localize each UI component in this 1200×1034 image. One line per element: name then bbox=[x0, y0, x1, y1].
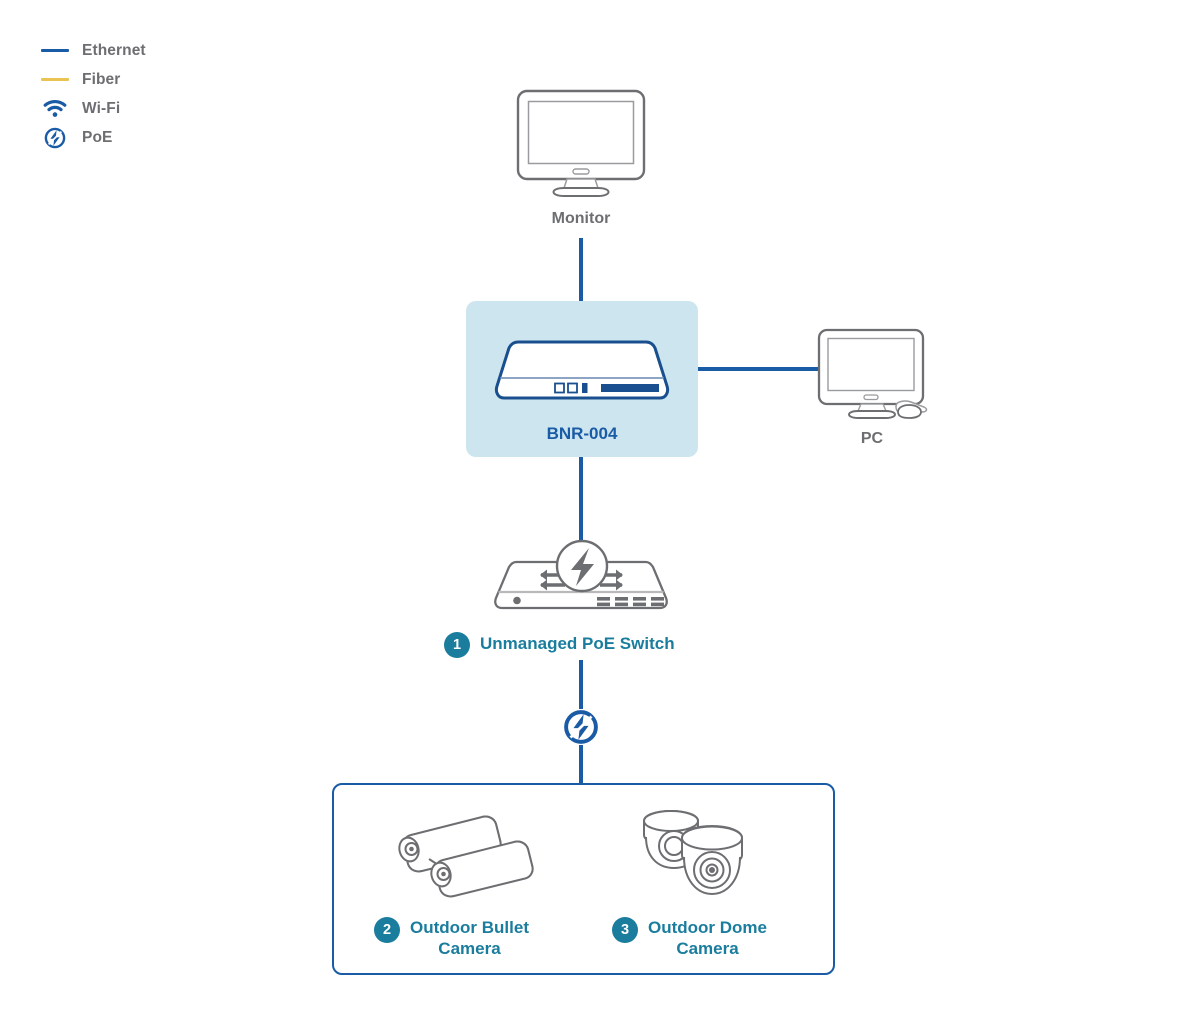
bullet-camera-label-text: Outdoor Bullet Camera bbox=[410, 917, 529, 959]
wifi-icon bbox=[40, 100, 70, 118]
legend-item-fiber: Fiber bbox=[40, 65, 260, 94]
node-switch[interactable] bbox=[490, 538, 672, 624]
legend: Ethernet Fiber Wi-Fi bbox=[40, 36, 260, 152]
legend-item-poe: PoE bbox=[40, 123, 260, 152]
switch-label-text: Unmanaged PoE Switch bbox=[480, 632, 675, 655]
switch-label: 1 Unmanaged PoE Switch bbox=[444, 632, 675, 658]
bullet-camera-icon bbox=[385, 812, 545, 904]
network-diagram-canvas: Ethernet Fiber Wi-Fi bbox=[0, 0, 1200, 1034]
poe-bolt-icon bbox=[563, 709, 599, 745]
legend-item-wifi: Wi-Fi bbox=[40, 94, 260, 123]
legend-item-ethernet: Ethernet bbox=[40, 36, 260, 65]
nvr-recorder-icon bbox=[494, 338, 670, 410]
legend-label-fiber: Fiber bbox=[82, 71, 120, 89]
poe-bolt-icon bbox=[40, 127, 70, 149]
node-monitor[interactable]: Monitor bbox=[505, 86, 657, 228]
link-nvr-to-pc bbox=[698, 367, 822, 371]
dome-camera-label-text: Outdoor Dome Camera bbox=[648, 917, 767, 959]
dome-camera-icon bbox=[635, 810, 775, 906]
switch-number-badge: 1 bbox=[444, 632, 470, 658]
monitor-icon bbox=[505, 86, 657, 198]
legend-label-poe: PoE bbox=[82, 129, 112, 147]
node-dome-camera[interactable] bbox=[635, 810, 775, 906]
dome-camera-number-badge: 3 bbox=[612, 917, 638, 943]
legend-label-ethernet: Ethernet bbox=[82, 42, 146, 60]
link-monitor-to-nvr bbox=[579, 238, 583, 302]
legend-label-wifi: Wi-Fi bbox=[82, 100, 120, 118]
link-poe-badge bbox=[563, 709, 599, 745]
node-label-pc: PC bbox=[812, 430, 932, 448]
network-switch-icon bbox=[490, 538, 672, 624]
bullet-camera-number-badge: 2 bbox=[374, 917, 400, 943]
node-bullet-camera[interactable] bbox=[385, 812, 545, 904]
node-label-monitor: Monitor bbox=[505, 210, 657, 228]
node-label-nvr: BNR-004 bbox=[494, 424, 670, 444]
ethernet-line-icon bbox=[40, 49, 70, 52]
dome-camera-label: 3 Outdoor Dome Camera bbox=[612, 917, 767, 959]
node-nvr[interactable]: BNR-004 bbox=[494, 338, 670, 444]
bullet-camera-label: 2 Outdoor Bullet Camera bbox=[374, 917, 529, 959]
pc-desktop-icon bbox=[812, 326, 932, 420]
node-pc[interactable]: PC bbox=[812, 326, 932, 448]
fiber-line-icon bbox=[40, 78, 70, 81]
